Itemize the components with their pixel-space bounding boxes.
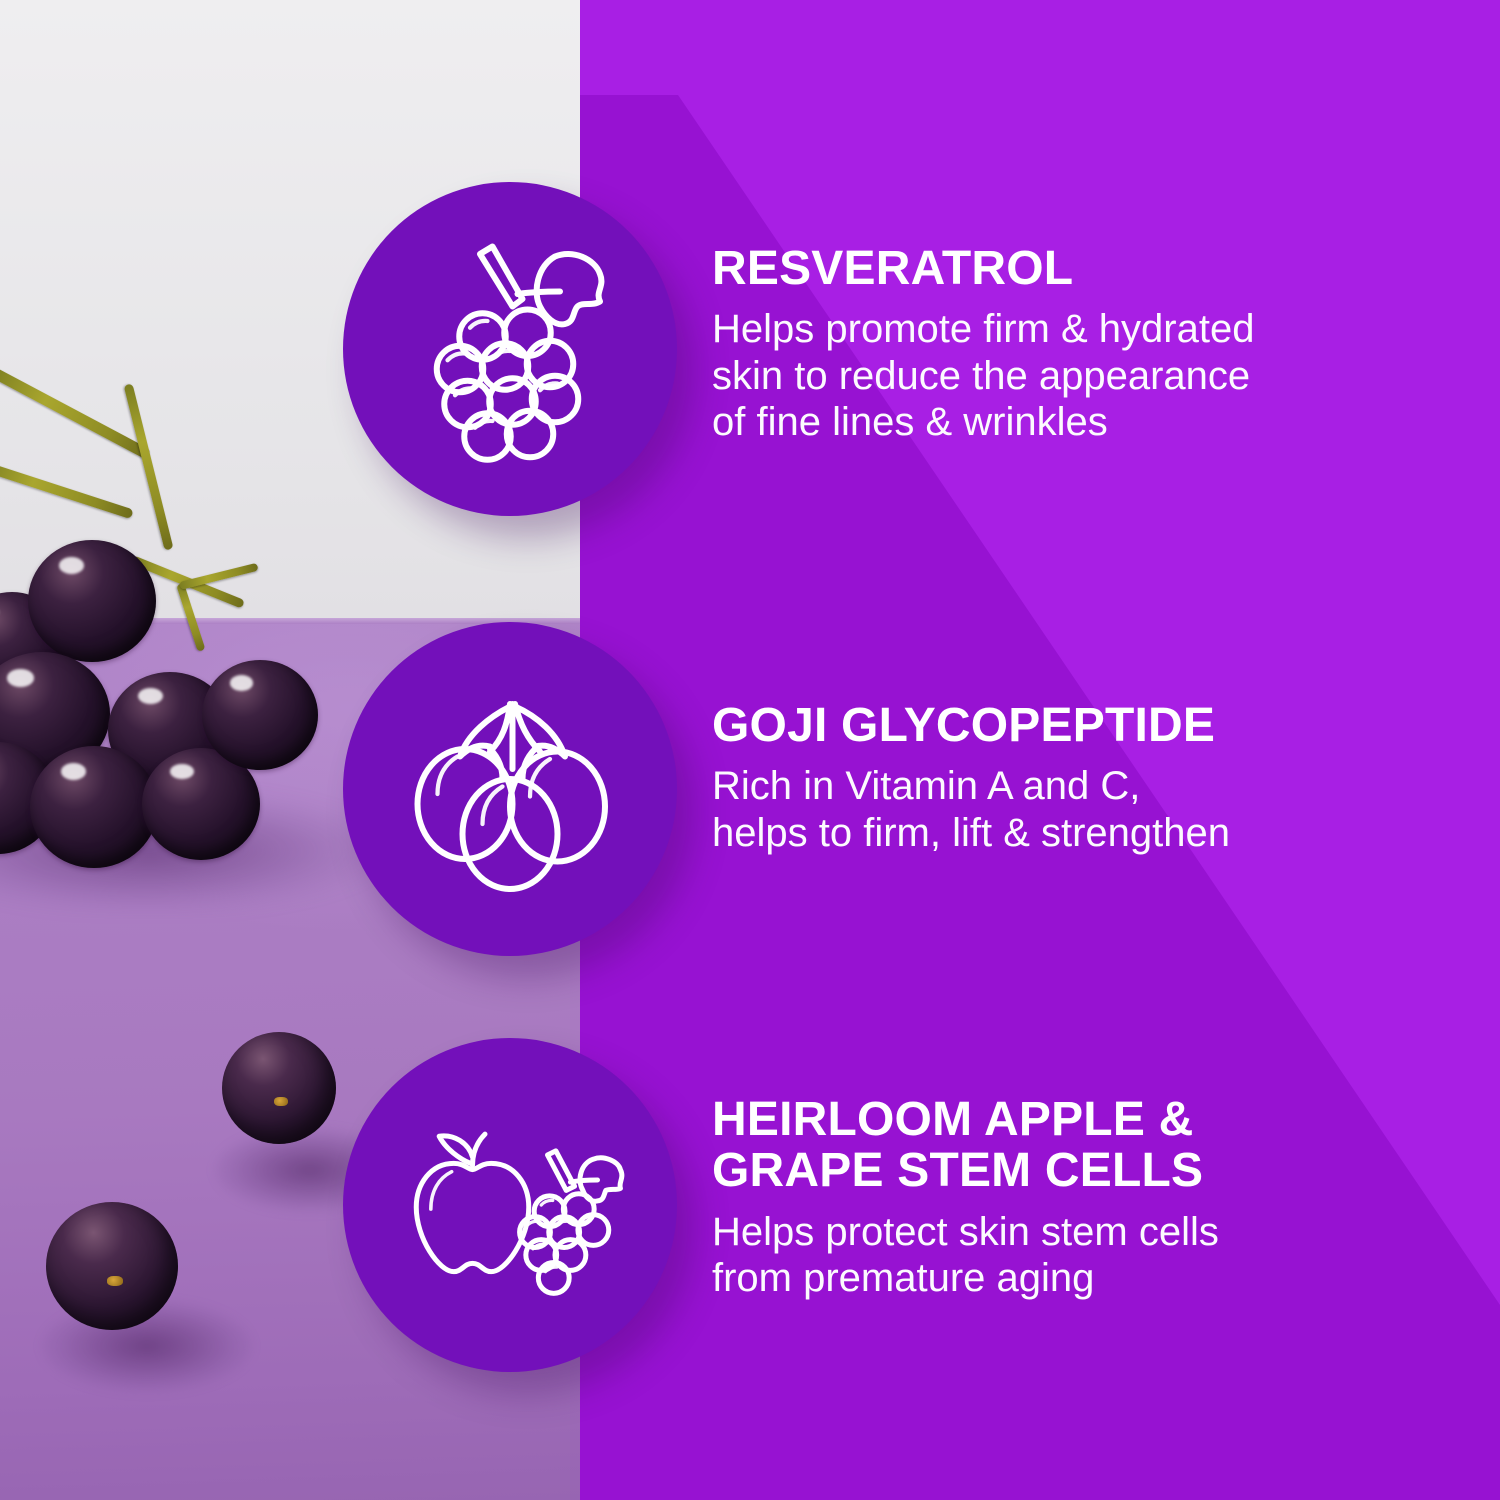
grape-stem [179,563,259,590]
grape-berry [202,660,318,770]
grape-cluster [0,520,340,880]
apple-and-grapes-icon [385,1080,635,1330]
grape-stem-nub [107,1276,123,1286]
feature-text-goji: GOJI GLYCOPEPTIDE Rich in Vitamin A and … [712,700,1432,856]
feature-body: Rich in Vitamin A and C, helps to firm, … [712,763,1432,856]
feature-body: Helps protect skin stem cells from prema… [712,1209,1432,1302]
loose-grape [222,1032,336,1144]
feature-text-stem-cells: HEIRLOOM APPLE & GRAPE STEM CELLS Helps … [712,1094,1432,1302]
feature-icon-badge-resveratrol [343,182,677,516]
grape-stem-nub [274,1097,288,1106]
grape-berry [30,746,158,868]
feature-text-resveratrol: RESVERATROL Helps promote firm & hydrate… [712,243,1432,446]
grape-stem [176,583,205,652]
loose-grape [46,1202,178,1330]
goji-berries-icon [385,664,635,914]
feature-icon-badge-goji [343,622,677,956]
feature-icon-badge-stem-cells [343,1038,677,1372]
feature-body: Helps promote firm & hydrated skin to re… [712,306,1432,445]
feature-heading: HEIRLOOM APPLE & GRAPE STEM CELLS [712,1094,1432,1197]
grape-berry [28,540,156,662]
ingredient-benefits-infographic: RESVERATROL Helps promote firm & hydrate… [0,0,1500,1500]
grapes-icon [385,224,635,474]
feature-heading: RESVERATROL [712,243,1432,294]
feature-heading: GOJI GLYCOPEPTIDE [712,700,1432,751]
